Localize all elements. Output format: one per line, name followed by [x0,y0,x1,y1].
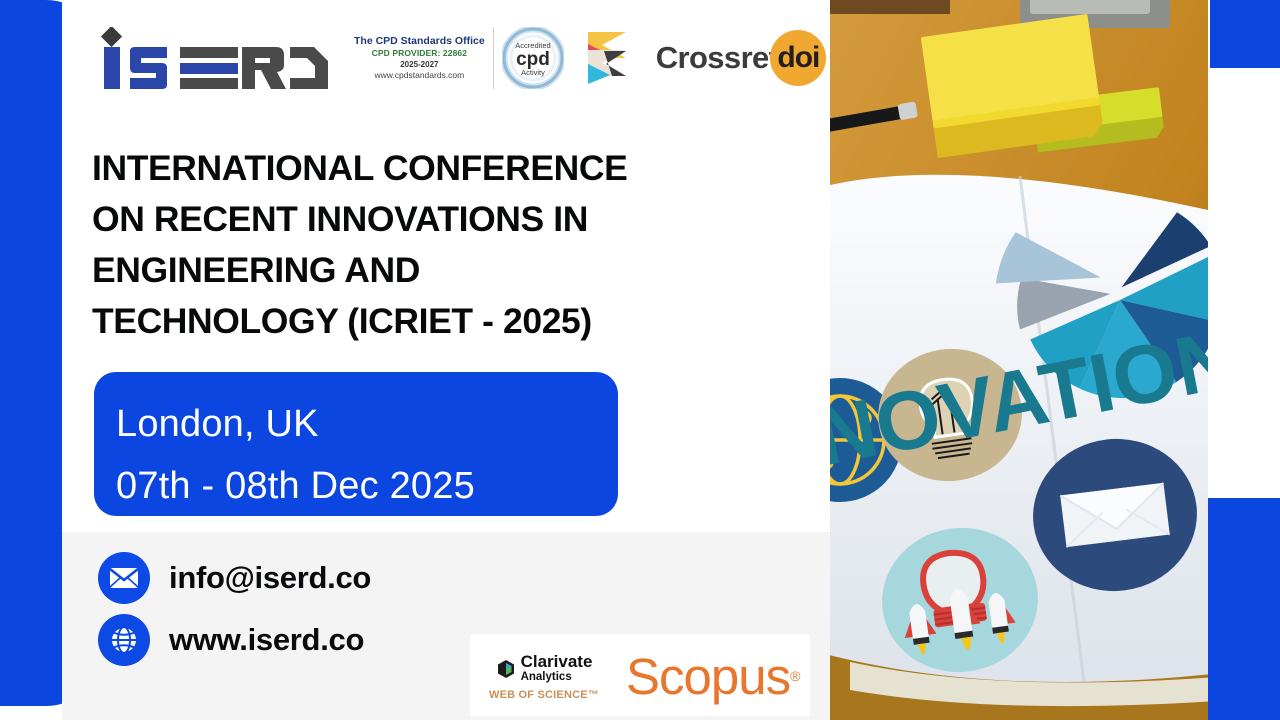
title-line-4: TECHNOLOGY (ICRIET - 2025) [92,296,812,347]
logo-strip: The CPD Standards Office CPD PROVIDER: 2… [92,14,832,102]
title-line-2: ON RECENT INNOVATIONS IN [92,194,812,245]
globe-icon [98,614,150,666]
clarivate-web-of-science-logo: Clarivate Analytics WEB OF SCIENCE™ [470,634,618,716]
cpd-seal-icon: Accredited cpd Activity [502,27,564,89]
clarivate-top-row: Clarivate Analytics [496,653,593,685]
contact-row-email[interactable]: info@iserd.co [98,550,371,606]
scopus-logo: Scopus ® [618,634,810,716]
cpd-text-block: The CPD Standards Office CPD PROVIDER: 2… [354,34,485,82]
title-line-3: ENGINEERING AND [92,245,812,296]
bottom-right-blue-block [1208,498,1280,720]
scopus-name: Scopus [626,651,790,702]
scopus-registered-mark: ® [790,668,800,684]
top-right-blue-block [1210,0,1280,68]
cpd-years-line: 2025-2027 [354,60,485,71]
email-text: info@iserd.co [169,560,371,596]
crossref-wordmark: Crossref [656,40,779,76]
clarivate-mark-icon [496,659,516,679]
clarivate-name: Clarivate [521,653,593,670]
title-line-1: INTERNATIONAL CONFERENCE [92,143,812,194]
crossref-doi-badge: doi [770,30,826,86]
contact-row-website[interactable]: www.iserd.co [98,612,371,668]
svg-text:Activity: Activity [521,68,545,77]
venue-text: London, UK [116,394,618,456]
envelope-icon [98,552,150,604]
cpd-url-line: www.cpdstandards.com [354,70,485,81]
page-title: INTERNATIONAL CONFERENCE ON RECENT INNOV… [92,143,812,347]
indexing-logos: Clarivate Analytics WEB OF SCIENCE™ Scop… [470,634,810,716]
clarivate-sub: Analytics [521,670,591,685]
cpd-provider-line: CPD PROVIDER: 22862 [354,48,485,59]
dates-text: 07th - 08th Dec 2025 [116,456,618,518]
venue-date-badge: London, UK 07th - 08th Dec 2025 [94,372,618,516]
cpd-accreditation: The CPD Standards Office CPD PROVIDER: 2… [354,27,564,89]
innovation-photo: NOVATION [830,0,1208,720]
iserd-logo [92,27,332,89]
crossref-logo: Crossref doi [586,30,827,86]
web-of-science-tagline: WEB OF SCIENCE™ [489,689,599,701]
svg-text:cpd: cpd [516,49,550,70]
conference-banner: The CPD Standards Office CPD PROVIDER: 2… [0,0,1280,720]
contact-block: info@iserd.co www.iserd.co [98,550,371,674]
divider [493,27,494,89]
cpd-office-line: The CPD Standards Office [354,34,485,48]
crossref-chevron-icon [586,30,648,86]
website-text: www.iserd.co [169,622,364,658]
